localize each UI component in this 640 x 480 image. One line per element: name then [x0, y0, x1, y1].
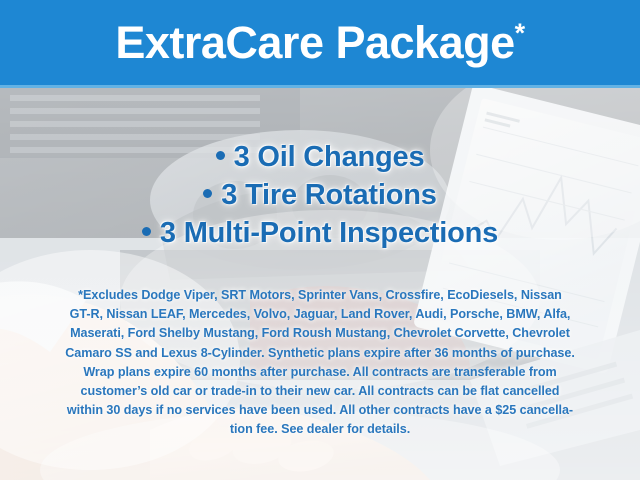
extracare-promo-graphic: ExtraCare Package* 3 Oil Changes 3 Tire …: [0, 0, 640, 480]
page-title-text: ExtraCare Package: [115, 17, 514, 68]
disclaimer-text: *Excludes Dodge Viper, SRT Motors, Sprin…: [26, 286, 614, 440]
list-item-label: 3 Tire Rotations: [221, 179, 436, 211]
list-item-label: 3 Oil Changes: [234, 141, 425, 173]
list-item-label: 3 Multi-Point Inspections: [160, 217, 498, 249]
bullet-dot-icon: [216, 151, 225, 160]
disclaimer-line: Wrap plans expire 60 months after purcha…: [26, 363, 614, 382]
bullet-dot-icon: [203, 189, 212, 198]
list-item: 3 Tire Rotations: [0, 176, 640, 214]
banner-underline: [0, 85, 640, 88]
list-item: 3 Multi-Point Inspections: [0, 214, 640, 252]
disclaimer-line: *Excludes Dodge Viper, SRT Motors, Sprin…: [26, 286, 614, 305]
disclaimer-line: customer’s old car or trade-in to their …: [26, 382, 614, 401]
disclaimer-line: GT-R, Nissan LEAF, Mercedes, Volvo, Jagu…: [26, 305, 614, 324]
bullet-dot-icon: [142, 227, 151, 236]
disclaimer-line: tion fee. See dealer for details.: [26, 420, 614, 439]
title-asterisk: *: [515, 18, 525, 48]
disclaimer-line: within 30 days if no services have been …: [26, 401, 614, 420]
disclaimer-line: Camaro SS and Lexus 8-Cylinder. Syntheti…: [26, 344, 614, 363]
benefits-list: 3 Oil Changes 3 Tire Rotations 3 Multi-P…: [0, 138, 640, 252]
page-title: ExtraCare Package*: [115, 20, 524, 65]
header-banner: ExtraCare Package*: [0, 0, 640, 87]
disclaimer-line: Maserati, Ford Shelby Mustang, Ford Rous…: [26, 324, 614, 343]
list-item: 3 Oil Changes: [0, 138, 640, 176]
